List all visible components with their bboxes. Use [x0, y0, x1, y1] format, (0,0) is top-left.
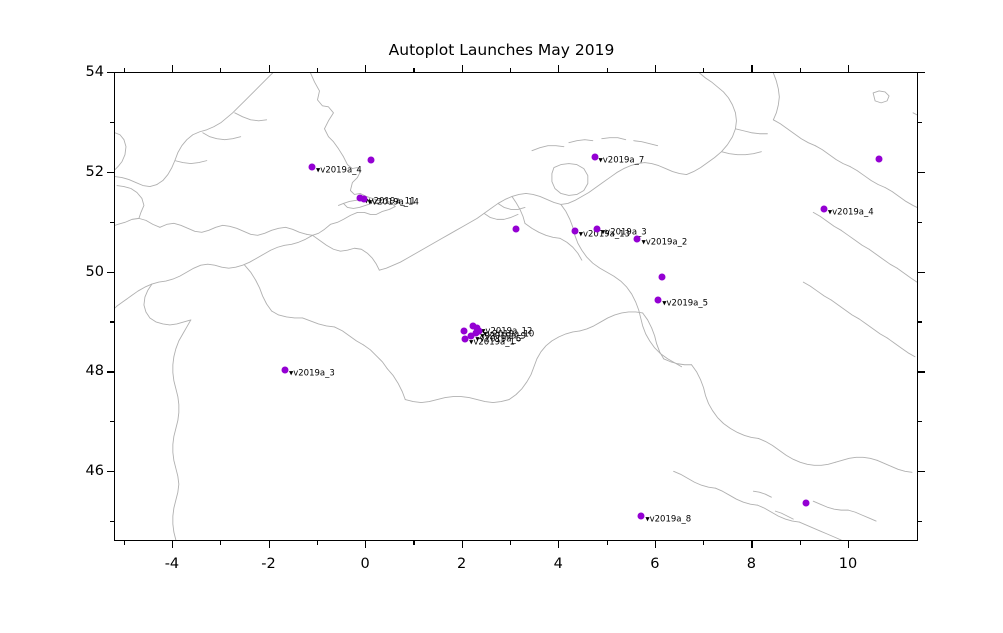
axis-minor-tick-y — [110, 521, 114, 522]
axis-tick-x — [558, 541, 559, 548]
data-point-label: ▾v2019a_7 — [599, 156, 645, 165]
axis-minor-tick-x — [800, 541, 801, 545]
axis-tick-x — [172, 65, 173, 72]
axis-tick-x — [365, 65, 366, 72]
axis-tick-y — [918, 471, 925, 472]
data-point — [638, 513, 645, 520]
axis-tick-x — [848, 65, 849, 72]
axis-tick-label-x: -2 — [261, 556, 275, 572]
data-point — [571, 227, 578, 234]
axis-tick-x — [751, 65, 752, 72]
axis-minor-tick-y — [918, 321, 922, 322]
axis-tick-label-x: 8 — [747, 556, 756, 572]
axis-tick-label-x: 0 — [360, 556, 369, 572]
axis-minor-tick-y — [110, 421, 114, 422]
axis-minor-tick-x — [510, 541, 511, 545]
axis-minor-tick-x — [124, 541, 125, 545]
page-title: Autoplot Launches May 2019 — [0, 41, 1003, 59]
axis-tick-y — [918, 371, 925, 372]
scatter-plot-axes[interactable]: ▾v2019a_4▾v2019a_11▾v2019a_14▾v2019a_7▾v… — [114, 72, 918, 541]
data-point — [658, 273, 665, 280]
axis-minor-tick-x — [220, 541, 221, 545]
axis-tick-x — [751, 541, 752, 548]
data-point — [512, 225, 519, 232]
figure-canvas: Autoplot Launches May 2019 — [0, 0, 1003, 633]
data-point-label: ▾v2019a_4 — [316, 166, 362, 175]
data-point — [460, 328, 467, 335]
axis-tick-y — [107, 272, 114, 273]
data-point — [820, 205, 827, 212]
axis-minor-tick-x — [703, 541, 704, 545]
data-point-label: ▾v2019a_1 — [469, 339, 515, 348]
axis-tick-y — [918, 272, 925, 273]
data-point — [875, 156, 882, 163]
data-point — [593, 226, 600, 233]
axis-tick-label-y: 54 — [86, 64, 104, 80]
data-point-label: ▾v2019a_2 — [641, 238, 687, 247]
axis-minor-tick-y — [918, 122, 922, 123]
axis-minor-tick-y — [110, 222, 114, 223]
data-point — [655, 297, 662, 304]
axis-tick-x — [269, 541, 270, 548]
axis-tick-y — [918, 172, 925, 173]
axis-minor-tick-y — [110, 321, 114, 322]
axis-tick-label-x: 4 — [554, 556, 563, 572]
data-point-label: ▾v2019a_4 — [828, 208, 874, 217]
axis-minor-tick-x — [317, 68, 318, 72]
axis-minor-tick-y — [918, 421, 922, 422]
axis-tick-label-y: 50 — [86, 264, 104, 280]
data-point — [360, 196, 367, 203]
axis-tick-label-y: 46 — [86, 463, 104, 479]
axis-minor-tick-x — [703, 68, 704, 72]
axis-tick-label-y: 52 — [86, 164, 104, 180]
axis-minor-tick-x — [317, 541, 318, 545]
data-points-layer: ▾v2019a_4▾v2019a_11▾v2019a_14▾v2019a_7▾v… — [115, 73, 917, 540]
axis-tick-y — [107, 371, 114, 372]
axis-minor-tick-x — [510, 68, 511, 72]
axis-minor-tick-y — [918, 521, 922, 522]
axis-minor-tick-y — [110, 122, 114, 123]
data-point-label: ▾v2019a_3 — [289, 369, 335, 378]
axis-minor-tick-x — [220, 68, 221, 72]
axis-tick-label-x: 10 — [839, 556, 857, 572]
data-point — [281, 366, 288, 373]
axis-minor-tick-x — [607, 68, 608, 72]
axis-minor-tick-x — [413, 541, 414, 545]
axis-minor-tick-x — [124, 68, 125, 72]
axis-tick-x — [462, 65, 463, 72]
axis-minor-tick-y — [918, 222, 922, 223]
axis-tick-y — [107, 72, 114, 73]
axis-tick-y — [918, 72, 925, 73]
axis-tick-x — [269, 65, 270, 72]
data-point — [462, 336, 469, 343]
data-point — [634, 235, 641, 242]
axis-tick-x — [365, 541, 366, 548]
data-point — [367, 157, 374, 164]
data-point-label: ▾v2019a_5 — [662, 300, 708, 309]
axis-tick-x — [655, 65, 656, 72]
axis-tick-x — [558, 65, 559, 72]
axis-tick-label-x: 2 — [457, 556, 466, 572]
axis-tick-label-y: 48 — [86, 363, 104, 379]
axis-tick-x — [172, 541, 173, 548]
axis-minor-tick-x — [800, 68, 801, 72]
axis-tick-y — [107, 172, 114, 173]
data-point — [309, 163, 316, 170]
data-point — [591, 153, 598, 160]
axis-tick-x — [462, 541, 463, 548]
axis-tick-x — [655, 541, 656, 548]
data-point — [803, 500, 810, 507]
axis-minor-tick-x — [607, 541, 608, 545]
axis-tick-y — [107, 471, 114, 472]
axis-tick-label-x: -4 — [165, 556, 179, 572]
axis-tick-label-x: 6 — [650, 556, 659, 572]
data-point-label: ▾v2019a_8 — [645, 516, 691, 525]
axis-tick-x — [848, 541, 849, 548]
data-point-label: ▾v2019a_14 — [368, 199, 419, 208]
axis-minor-tick-x — [413, 68, 414, 72]
